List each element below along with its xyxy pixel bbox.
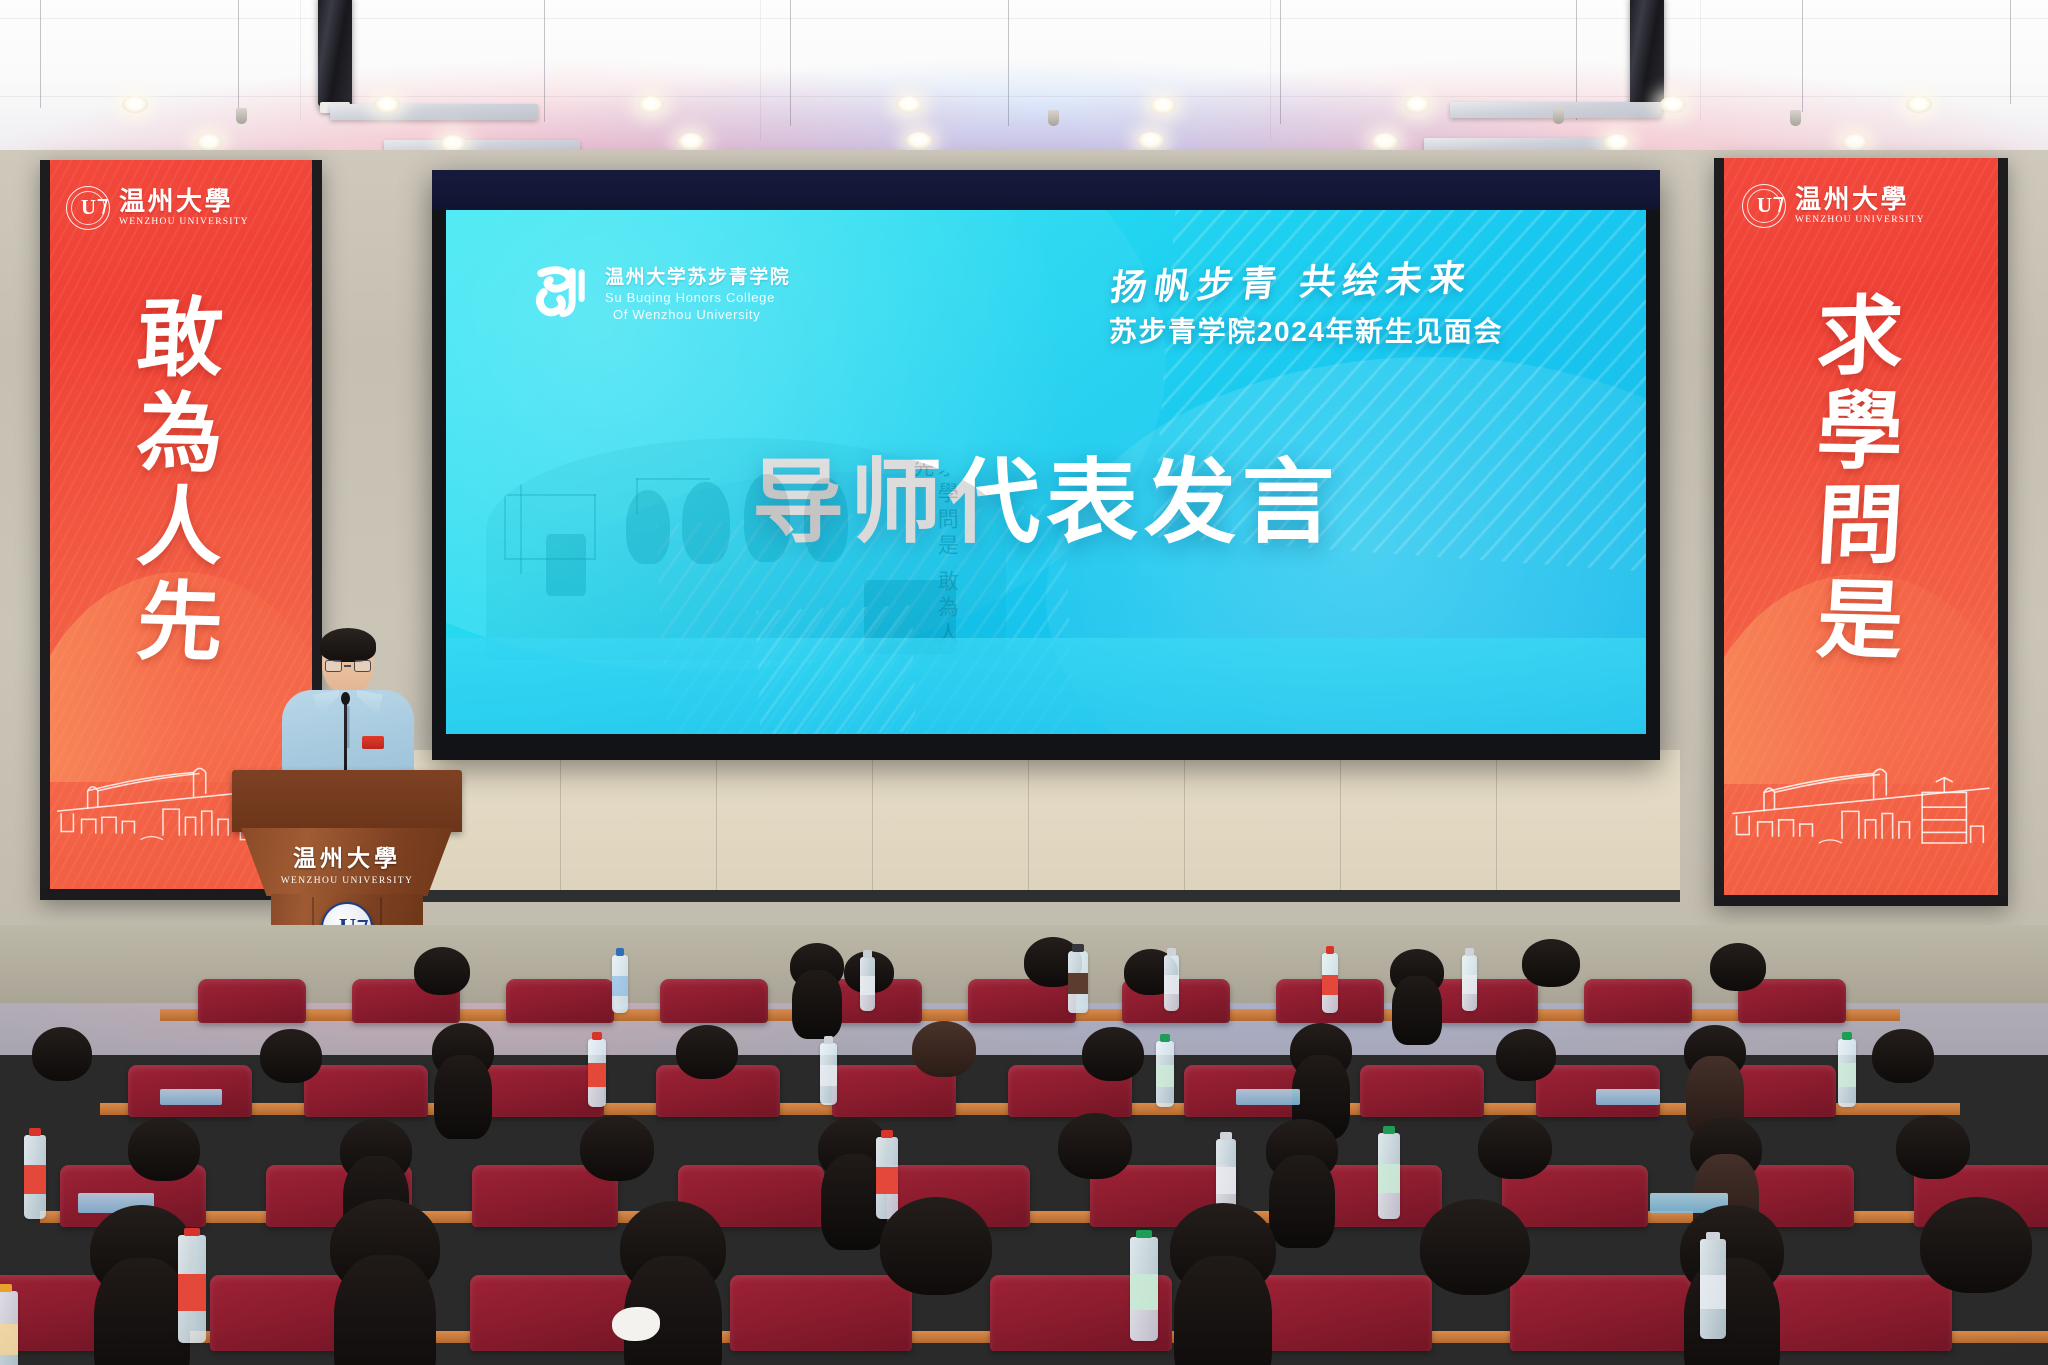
university-seal-icon: U	[1742, 184, 1786, 228]
ceiling-speaker-right	[1630, 0, 1664, 106]
audience-head	[1290, 1023, 1352, 1079]
shirt-logo-patch	[362, 736, 384, 749]
water-bottle	[1378, 1133, 1400, 1219]
audience-head	[1680, 1205, 1784, 1297]
audience-head	[1170, 1203, 1276, 1295]
glasses-bridge	[344, 665, 351, 667]
slide-watermark-photo: 求學問是 敢為人先	[486, 438, 1006, 660]
water-bottle	[178, 1235, 206, 1343]
water-bottle	[1156, 1041, 1174, 1107]
screen-top-bar	[432, 170, 1660, 210]
ceiling-downlight	[678, 133, 704, 150]
speaker-head	[322, 632, 374, 694]
water-bottle	[876, 1137, 898, 1219]
water-bottle	[588, 1039, 606, 1107]
audience-head	[1684, 1025, 1746, 1079]
audience-head	[340, 1119, 412, 1183]
audience-head	[912, 1021, 976, 1077]
speaker-hair	[320, 628, 376, 662]
podium-nameplate: 温州大學 WENZHOU UNIVERSITY	[241, 828, 453, 896]
water-bottle	[0, 1291, 18, 1365]
calligraphy-left: 敢 為 人 先	[40, 292, 322, 670]
audience-head	[1710, 943, 1766, 991]
podium-name-cn: 温州大學	[293, 839, 401, 873]
podium-name-en: WENZHOU UNIVERSITY	[281, 876, 414, 886]
audience-head	[1390, 949, 1444, 995]
audience-head	[414, 947, 470, 995]
calligraphy-right: 求 學 問 是	[1714, 290, 2008, 668]
audience-head	[1478, 1115, 1552, 1179]
water-bottle	[860, 957, 875, 1011]
presentation-slide: 温州大学苏步青学院 Su Buqing Honors College Of We…	[446, 210, 1646, 734]
ceiling-downlight	[638, 96, 664, 113]
ceiling-downlight	[196, 134, 222, 151]
calligraphy-char: 敢	[40, 289, 322, 389]
slide-college-name-cn: 温州大学苏步青学院	[605, 262, 790, 289]
shirt-collar	[357, 690, 383, 716]
university-name-cn: 温州大學	[1795, 186, 1925, 213]
water-bottle	[24, 1135, 46, 1219]
led-screen: 温州大学苏步青学院 Su Buqing Honors College Of We…	[432, 170, 1660, 760]
water-bottle	[1838, 1039, 1856, 1107]
audience-area	[0, 925, 2048, 1365]
banner-right: U 温州大學 WENZHOU UNIVERSITY 求 學 問 是	[1714, 158, 2008, 906]
glasses-icon	[354, 660, 371, 672]
audience-head	[676, 1025, 738, 1079]
slide-college-name-en2: Of Wenzhou University	[605, 306, 790, 323]
water-bottle	[1700, 1239, 1726, 1339]
audience-head	[1266, 1119, 1338, 1181]
calligraphy-char: 求	[1714, 287, 2008, 388]
tissue	[612, 1307, 660, 1341]
glasses-icon	[325, 660, 342, 672]
desk-monitor	[160, 1089, 222, 1105]
ceiling-downlight	[1842, 134, 1868, 151]
water-bottle	[1130, 1237, 1158, 1341]
ceiling-downlight	[374, 96, 400, 113]
ceiling-downlight	[122, 96, 148, 113]
water-bottle	[1462, 955, 1477, 1011]
ceiling-speaker-left	[318, 0, 352, 106]
audience-head	[330, 1199, 440, 1295]
university-seal-icon: U	[66, 186, 110, 230]
slide-bottom-band	[446, 638, 1646, 734]
audience-head	[1896, 1115, 1970, 1179]
water-bottle	[612, 955, 628, 1013]
audience-head	[1082, 1027, 1144, 1081]
audience-head	[1058, 1113, 1132, 1179]
university-logo-right: U 温州大學 WENZHOU UNIVERSITY	[1742, 184, 1925, 228]
audience-head	[1872, 1029, 1934, 1083]
auditorium-scene: U 温州大學 WENZHOU UNIVERSITY 敢 為 人 先	[0, 0, 2048, 1365]
water-bottle	[1322, 953, 1338, 1013]
audience-head	[880, 1197, 992, 1295]
slide-college-logo: 温州大学苏步青学院 Su Buqing Honors College Of We…	[530, 262, 790, 323]
podium-top	[232, 770, 462, 832]
ceiling-downlight	[1372, 133, 1398, 150]
ceiling-downlight	[1660, 96, 1686, 113]
audience-head	[1420, 1199, 1530, 1295]
slide-subtitle: 苏步青学院2024年新生见面会	[1026, 310, 1586, 350]
audience-head	[620, 1201, 726, 1295]
university-name-cn: 温州大學	[119, 188, 249, 215]
slide-college-name-en1: Su Buqing Honors College	[605, 289, 790, 306]
university-name-en: WENZHOU UNIVERSITY	[1795, 216, 1925, 226]
audience-head	[1522, 939, 1580, 987]
watermark-calligraphy: 求學問是 敢為人先	[910, 456, 959, 660]
ceiling-downlight	[1604, 134, 1630, 151]
microphone-icon	[341, 692, 350, 705]
ceiling-downlight	[1404, 96, 1430, 113]
ceiling-downlight	[1138, 132, 1164, 149]
water-bottle	[820, 1043, 837, 1105]
audience-head	[128, 1117, 200, 1181]
audience-head	[432, 1023, 494, 1079]
audience-head	[1920, 1197, 2032, 1293]
audience-head	[260, 1029, 322, 1083]
desk-monitor	[1596, 1089, 1660, 1105]
ceiling-downlight	[906, 132, 932, 149]
audience-head	[790, 943, 844, 989]
audience-head	[580, 1115, 654, 1181]
ceiling-downlight	[896, 96, 922, 113]
su-buqing-logo-icon	[530, 264, 592, 322]
university-name-en: WENZHOU UNIVERSITY	[119, 218, 249, 228]
calligraphy-char: 為	[40, 384, 322, 484]
shirt-collar	[313, 690, 339, 716]
calligraphy-char: 是	[1714, 570, 2008, 672]
audience-head	[32, 1027, 92, 1081]
ceiling-downlight	[1150, 97, 1176, 114]
calligraphy-char: 人	[40, 480, 322, 578]
university-logo-left: U 温州大學 WENZHOU UNIVERSITY	[66, 186, 249, 230]
ceiling-downlight	[1906, 96, 1932, 113]
water-bottle	[1164, 955, 1179, 1011]
calligraphy-char: 學	[1714, 382, 2008, 482]
calligraphy-char: 問	[1714, 478, 2008, 576]
audience-head	[1496, 1029, 1556, 1081]
desk-monitor	[1236, 1089, 1300, 1105]
thermos-bottle	[1068, 951, 1088, 1013]
skyline-art-right	[1726, 746, 2000, 862]
audience-head	[1690, 1117, 1762, 1181]
